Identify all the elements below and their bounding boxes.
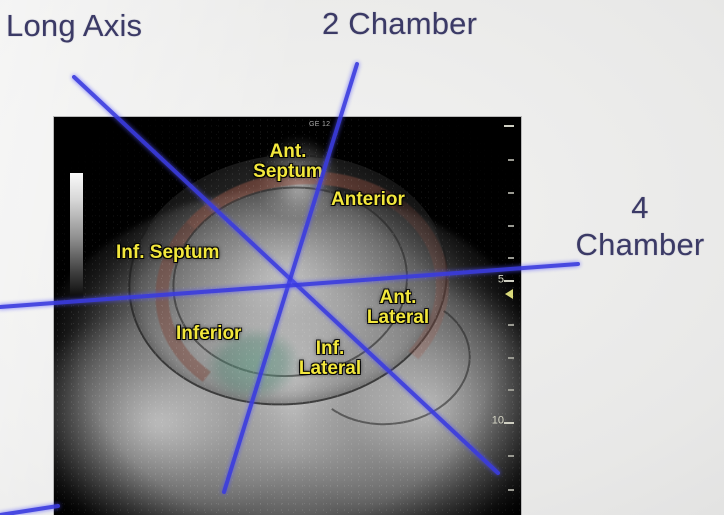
depth-tick xyxy=(508,257,514,259)
depth-tick xyxy=(508,192,514,194)
depth-label-5: 5 xyxy=(498,273,504,285)
depth-tick xyxy=(508,357,514,359)
depth-tick xyxy=(508,225,514,227)
label-4-chamber: 4 Chamber xyxy=(560,190,720,263)
slide-canvas: GE 12 5 10 Ant. Septum Anterior Inf. Sep… xyxy=(0,0,724,515)
focus-zone-marker xyxy=(505,289,513,299)
depth-tick xyxy=(508,159,514,161)
label-2-chamber: 2 Chamber xyxy=(322,6,477,42)
lv-short-axis-ring-overlay xyxy=(116,139,460,421)
depth-tick xyxy=(508,389,514,391)
ultrasound-image-panel: GE 12 5 10 Ant. Septum Anterior Inf. Sep… xyxy=(54,117,521,515)
ultrasound-tissue-render xyxy=(54,117,521,515)
grayscale-reference-bar xyxy=(70,173,83,298)
depth-tick xyxy=(508,455,514,457)
depth-tick xyxy=(504,422,514,424)
depth-tick xyxy=(508,489,514,491)
label-long-axis: Long Axis xyxy=(6,8,142,44)
depth-tick xyxy=(504,280,514,282)
depth-tick xyxy=(504,125,514,127)
depth-tick xyxy=(508,324,514,326)
depth-label-10: 10 xyxy=(492,414,504,426)
machine-overlay-text: GE 12 xyxy=(309,120,330,129)
label-4-chamber-word: Chamber xyxy=(576,227,705,262)
depth-ruler: 5 10 xyxy=(486,117,516,515)
label-4-chamber-number: 4 xyxy=(560,190,720,227)
